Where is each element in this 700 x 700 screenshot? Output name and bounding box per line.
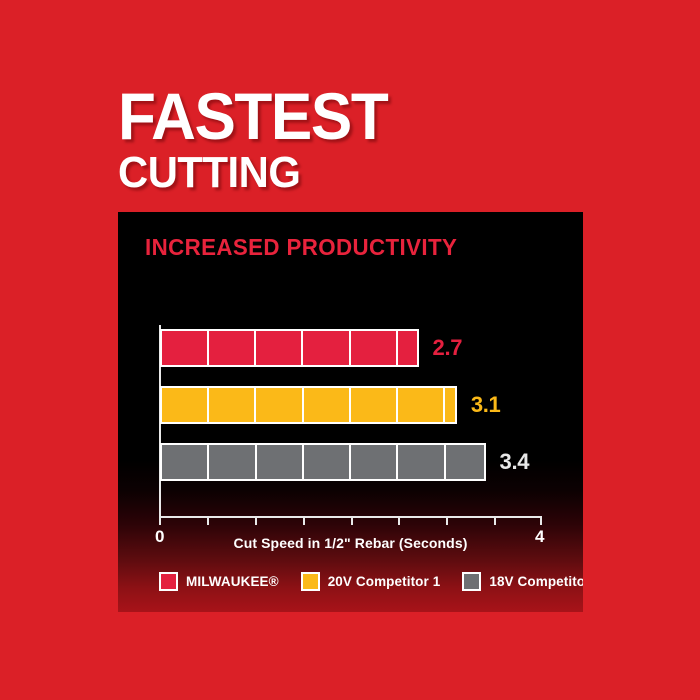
legend-swatch-icon <box>159 572 178 591</box>
x-axis-tick <box>351 516 353 525</box>
legend-label: MILWAUKEE® <box>186 574 279 589</box>
bar-2 <box>160 386 457 424</box>
bar-segment <box>257 445 304 479</box>
legend-item[interactable]: MILWAUKEE® <box>159 572 279 591</box>
bar-1 <box>160 329 419 367</box>
bar-row: 2.7 <box>160 329 459 367</box>
bar-segment <box>162 331 209 365</box>
plot-area: 2.73.13.4 0 4 Cut Speed in 1/2" Rebar (S… <box>159 325 542 518</box>
x-axis-tick <box>446 516 448 525</box>
bar-segment <box>209 388 256 422</box>
x-axis-tick <box>494 516 496 525</box>
bar-segment <box>445 388 454 422</box>
bar-value-label: 3.4 <box>500 449 530 475</box>
legend-label: 20V Competitor 1 <box>328 574 441 589</box>
bar-segment <box>398 388 445 422</box>
x-axis-tick <box>159 516 161 525</box>
bar-segment <box>398 331 417 365</box>
bar-segment <box>209 331 256 365</box>
legend-label: 18V Competitor 2 <box>489 574 583 589</box>
bar-3 <box>160 443 486 481</box>
bar-row: 3.1 <box>160 386 497 424</box>
bar-segment <box>256 388 303 422</box>
x-axis-tick <box>398 516 400 525</box>
x-axis-tick <box>207 516 209 525</box>
legend-swatch-icon <box>462 572 481 591</box>
x-axis-title: Cut Speed in 1/2" Rebar (Seconds) <box>159 535 542 551</box>
bar-segment <box>446 445 484 479</box>
x-axis-tick <box>303 516 305 525</box>
bar-value-label: 3.1 <box>471 392 501 418</box>
x-axis-tick <box>255 516 257 525</box>
bar-segment <box>351 388 398 422</box>
chart-legend: MILWAUKEE®20V Competitor 118V Competitor… <box>159 572 559 591</box>
bar-segment <box>162 388 209 422</box>
legend-item[interactable]: 20V Competitor 1 <box>301 572 441 591</box>
bar-segment <box>398 445 445 479</box>
bar-segment <box>162 445 209 479</box>
bar-segment <box>304 388 351 422</box>
headline: FASTEST CUTTING <box>118 88 588 195</box>
bar-segment <box>256 331 303 365</box>
chart-title: INCREASED PRODUCTIVITY <box>145 234 457 261</box>
bar-value-label: 2.7 <box>433 335 463 361</box>
bar-row: 3.4 <box>160 443 526 481</box>
legend-swatch-icon <box>301 572 320 591</box>
bar-segment <box>303 331 350 365</box>
bar-segment <box>351 331 398 365</box>
headline-secondary: CUTTING <box>118 151 565 195</box>
bar-segment <box>209 445 256 479</box>
bar-segment <box>304 445 351 479</box>
x-axis-tick <box>540 516 542 525</box>
bar-segment <box>351 445 398 479</box>
chart-panel: INCREASED PRODUCTIVITY 2.73.13.4 0 4 Cut… <box>118 212 583 612</box>
legend-item[interactable]: 18V Competitor 2 <box>462 572 583 591</box>
headline-primary: FASTEST <box>118 88 560 145</box>
promo-graphic: FASTEST CUTTING INCREASED PRODUCTIVITY 2… <box>0 0 700 700</box>
